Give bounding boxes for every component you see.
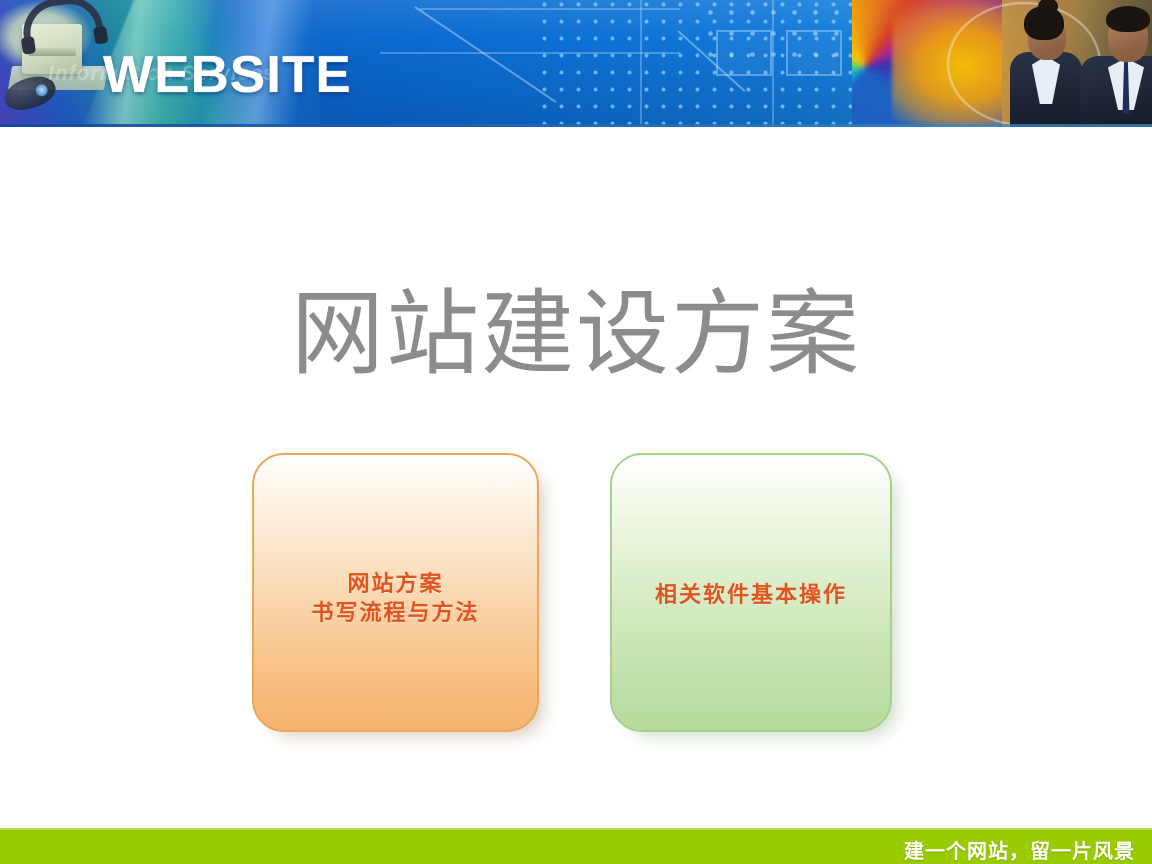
banner-bottom-edge bbox=[0, 124, 1152, 127]
man-hair bbox=[1106, 6, 1150, 32]
circuit-rect-2 bbox=[786, 30, 842, 76]
circuit-rect-1 bbox=[716, 30, 772, 76]
card-website-plan-label: 网站方案 书写流程与方法 bbox=[254, 570, 537, 628]
circuit-line-2 bbox=[772, 0, 774, 127]
presentation-slide: Information Services WEBSITE bbox=[0, 0, 1152, 864]
header-banner: Information Services WEBSITE bbox=[0, 0, 1152, 127]
website-wordmark: WEBSITE bbox=[103, 49, 352, 101]
card-software-basics-label: 相关软件基本操作 bbox=[612, 581, 890, 610]
circuit-line-1 bbox=[640, 0, 642, 127]
card-website-plan[interactable]: 网站方案 书写流程与方法 bbox=[252, 453, 539, 732]
person-man bbox=[1080, 0, 1152, 127]
footer-bar: 建一个网站，留一片风景 bbox=[0, 828, 1152, 864]
card-software-basics[interactable]: 相关软件基本操作 bbox=[610, 453, 892, 732]
headphones-icon bbox=[19, 0, 105, 51]
circuit-line-5 bbox=[380, 52, 680, 54]
footer-slogan: 建一个网站，留一片风景 bbox=[904, 835, 1135, 864]
circuit-line-4 bbox=[420, 8, 680, 10]
banner-right-photo bbox=[852, 0, 1152, 127]
person-woman bbox=[1002, 0, 1088, 127]
page-title: 网站建设方案 bbox=[0, 288, 1152, 381]
